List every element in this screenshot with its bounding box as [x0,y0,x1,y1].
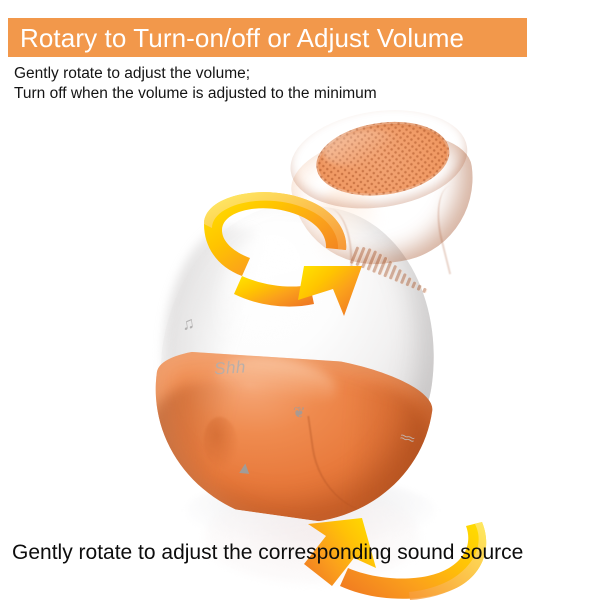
cap-facet-right [428,182,486,275]
speaker-orange-base[interactable] [139,336,438,541]
bottom-caption: Gently rotate to adjust the correspondin… [12,540,592,566]
product-stage: ♫ Shh ❦ ≈≈ ▲ [0,88,600,538]
product-instruction-graphic: Rotary to Turn-on/off or Adjust Volume G… [0,0,600,600]
speaker-grille [311,114,454,204]
header-banner: Rotary to Turn-on/off or Adjust Volume [8,18,527,57]
speaker-device: ♫ Shh ❦ ≈≈ ▲ [122,68,519,541]
banner-title: Rotary to Turn-on/off or Adjust Volume [20,24,464,52]
